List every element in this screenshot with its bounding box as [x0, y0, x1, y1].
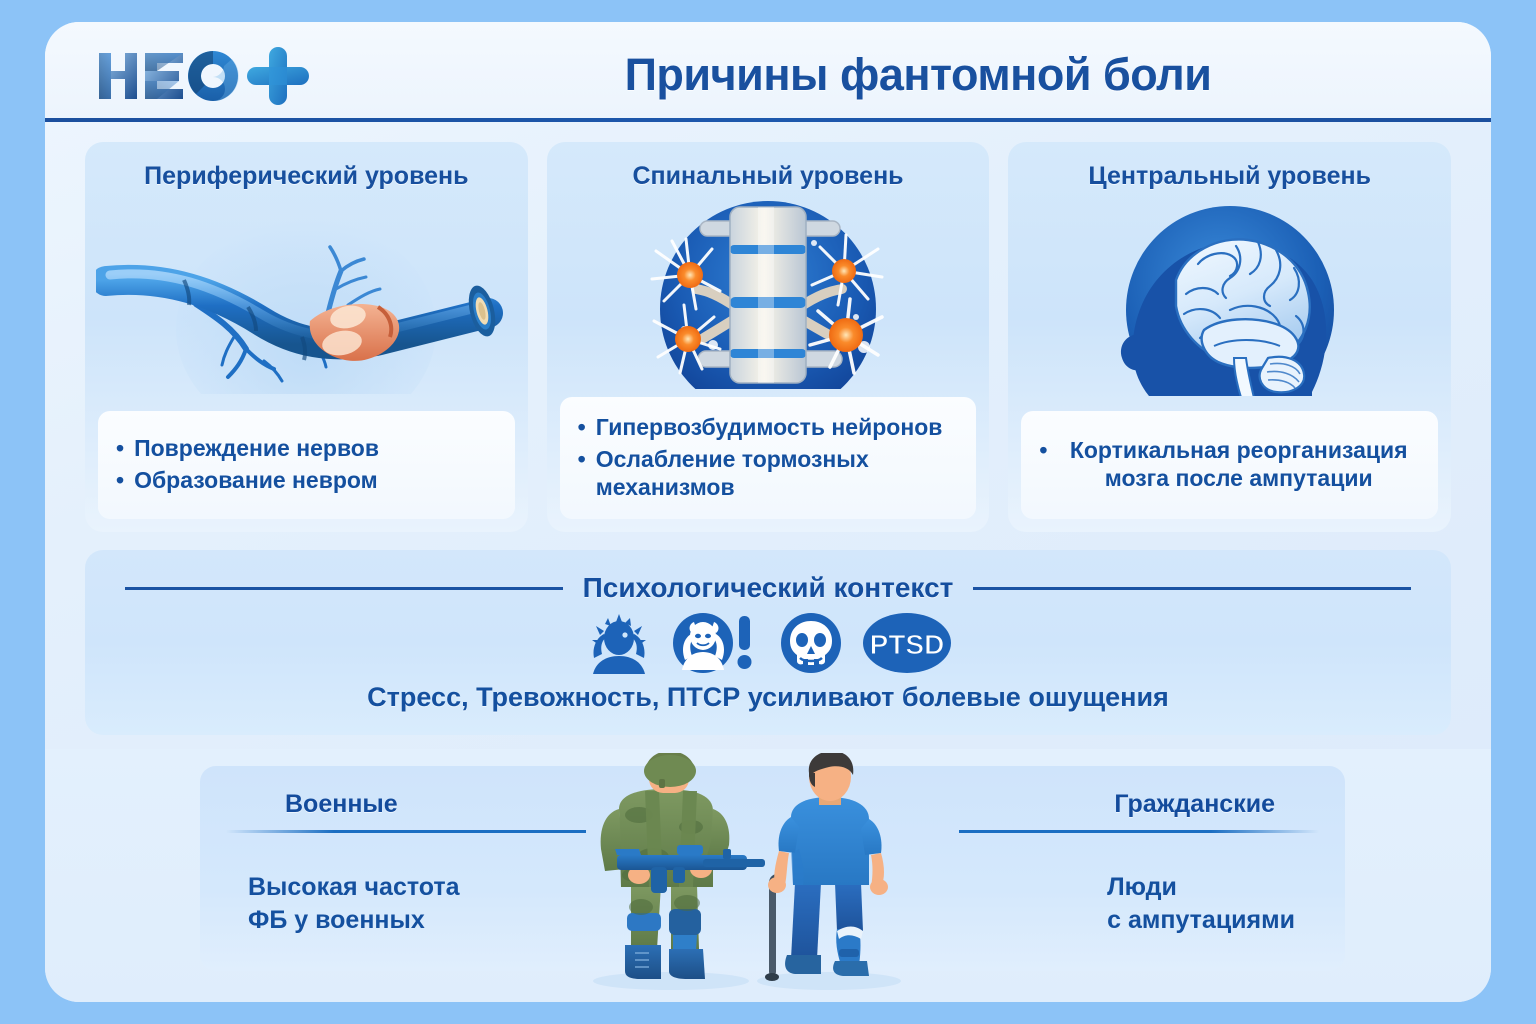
soldier-with-prosthesis-figure — [553, 753, 783, 991]
ptsd-badge-label: PTSD — [870, 629, 945, 660]
psychological-context-panel: Психологический контекст — [85, 550, 1451, 735]
psychological-icon-row: PTSD — [85, 612, 1451, 674]
brain-head-illustration — [1008, 191, 1451, 411]
psychological-context-title: Психологический контекст — [583, 572, 954, 604]
population-groups-band: Военные Высокая частота ФБ у военных — [45, 749, 1491, 1002]
group-military[interactable]: Военные Высокая частота ФБ у военных — [200, 766, 773, 971]
psychological-context-caption: Стресс, Тревожность, ПТСР усиливают боле… — [85, 682, 1451, 713]
card-title-spinal: Спинальный уровень — [632, 162, 903, 191]
page-title: Причины фантомной боли — [375, 42, 1461, 108]
divider-left — [125, 587, 563, 590]
list-item-label: Гипервозбудимость нейронов — [596, 413, 959, 441]
group-text-line: Высокая частота — [248, 871, 460, 904]
poster-root: Причины фантомной боли Периферический ур… — [45, 22, 1491, 1002]
stressed-person-icon — [584, 612, 654, 674]
group-text-line: ФБ у военных — [248, 904, 460, 937]
list-item: • Ослабление тормозных механизмов — [578, 443, 959, 503]
list-item-label: Кортикальная реорганизация мозга после а… — [1057, 436, 1420, 492]
skull-icon — [778, 612, 844, 674]
spine-neurons-illustration — [547, 191, 990, 397]
group-text-line: с ампутациями — [1107, 904, 1295, 937]
card-spinal[interactable]: Спинальный уровень — [547, 142, 990, 532]
list-item: • Кортикальная реорганизация мозга после… — [1039, 434, 1420, 494]
card-list-spinal: • Гипервозбудимость нейронов • Ослаблени… — [560, 397, 977, 519]
card-list-central: • Кортикальная реорганизация мозга после… — [1021, 411, 1438, 519]
bullet-icon: • — [1039, 436, 1047, 464]
bullet-icon: • — [578, 413, 586, 441]
psychological-context-header: Психологический контекст — [125, 572, 1411, 604]
list-item-label: Образование невром — [134, 466, 497, 494]
list-item: • Повреждение нервов — [116, 432, 497, 464]
card-central[interactable]: Центральный уровень — [1008, 142, 1451, 532]
anxious-person-exclamation-icon — [672, 612, 760, 674]
group-title-civilian: Гражданские — [1114, 790, 1275, 819]
card-list-peripheral: • Повреждение нервов • Образование невро… — [98, 411, 515, 519]
levels-card-row: Периферический уровень — [85, 142, 1451, 532]
group-text-military: Высокая частота ФБ у военных — [248, 871, 460, 937]
group-text-line: Люди — [1107, 871, 1295, 904]
group-text-civilian: Люди с ампутациями — [1107, 871, 1295, 937]
population-groups-inner: Военные Высокая частота ФБ у военных — [200, 766, 1345, 971]
heo-plus-logo — [95, 48, 335, 104]
group-divider-military — [226, 830, 586, 833]
list-item-label: Ослабление тормозных механизмов — [596, 445, 959, 501]
card-peripheral[interactable]: Периферический уровень — [85, 142, 528, 532]
bullet-icon: • — [116, 466, 124, 494]
divider-right — [973, 587, 1411, 590]
ptsd-badge-icon: PTSD — [862, 612, 952, 674]
card-title-central: Центральный уровень — [1088, 162, 1371, 191]
list-item: • Образование невром — [116, 464, 497, 496]
group-divider-civilian — [959, 830, 1319, 833]
bullet-icon: • — [578, 445, 586, 473]
card-title-peripheral: Периферический уровень — [144, 162, 468, 191]
list-item-label: Повреждение нервов — [134, 434, 497, 462]
group-civilian[interactable]: Гражданские Люди с ампутациями — [773, 766, 1346, 971]
bullet-icon: • — [116, 434, 124, 462]
poster-header: Причины фантомной боли — [45, 22, 1491, 122]
damaged-nerve-illustration — [85, 191, 528, 411]
list-item: • Гипервозбудимость нейронов — [578, 411, 959, 443]
group-title-military: Военные — [285, 790, 398, 819]
